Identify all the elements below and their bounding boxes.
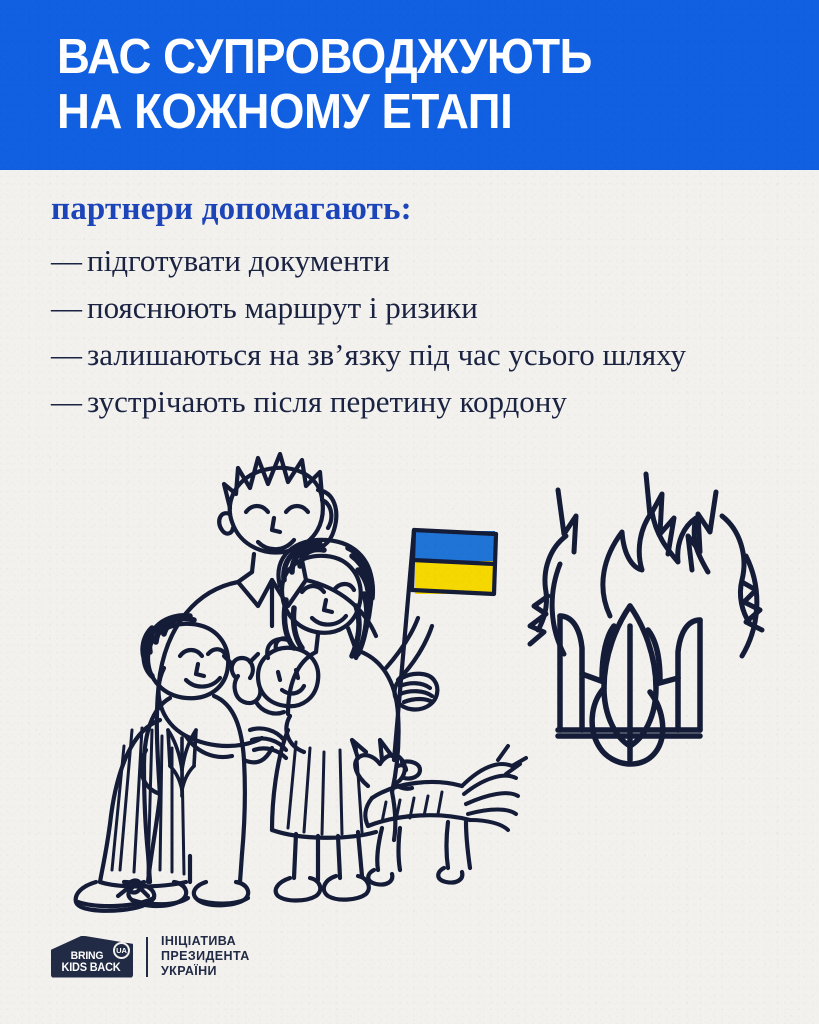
initiative-caption: ІНІЦІАТИВА ПРЕЗИДЕНТА УКРАЇНИ (161, 934, 250, 979)
header-banner: ВАС СУПРОВОДЖУЮТЬ НА КОЖНОМУ ЕТАПІ (0, 0, 819, 170)
footer-logo: BRING KIDS BACK UA ІНІЦІАТИВА ПРЕЗИДЕНТА… (51, 934, 250, 979)
ua-mark-icon: UA (113, 942, 130, 959)
burning-trident-emblem (530, 474, 762, 764)
page-title: ВАС СУПРОВОДЖУЮТЬ НА КОЖНОМУ ЕТАПІ (57, 30, 708, 140)
list-item-label: пояснюють маршрут і ризики (87, 284, 478, 331)
father-figure (76, 454, 376, 911)
dog-figure (352, 740, 526, 885)
baby-figure (224, 638, 318, 713)
list-dash: — (51, 378, 87, 425)
bring-kids-back-badge: BRING KIDS BACK UA (51, 936, 133, 978)
illustration (0, 430, 819, 920)
logo-divider (146, 937, 148, 977)
badge-line-2: KIDS BACK (55, 962, 127, 974)
list-dash: — (51, 284, 87, 331)
list-dash: — (51, 331, 87, 378)
poster-canvas: ВАС СУПРОВОДЖУЮТЬ НА КОЖНОМУ ЕТАПІ партн… (0, 0, 819, 1024)
list-item: — пояснюють маршрут і ризики (51, 284, 791, 331)
illustration-svg (0, 430, 819, 920)
list-item-label: зустрічають після перетину кордону (87, 378, 567, 425)
list-dash: — (51, 237, 87, 284)
list-item-label: залишаються на зв’язку під час усього шл… (87, 331, 686, 378)
ukrainian-flag (394, 530, 496, 760)
benefits-list: — підготувати документи — пояснюють марш… (51, 237, 791, 425)
list-item: — зустрічають після перетину кордону (51, 378, 791, 425)
list-item: — залишаються на зв’язку під час усього … (51, 331, 791, 378)
list-item-label: підготувати документи (87, 237, 390, 284)
list-item: — підготувати документи (51, 237, 791, 284)
badge-line-1: BRING (53, 950, 121, 962)
section-heading: партнери допомагають: (51, 190, 412, 228)
